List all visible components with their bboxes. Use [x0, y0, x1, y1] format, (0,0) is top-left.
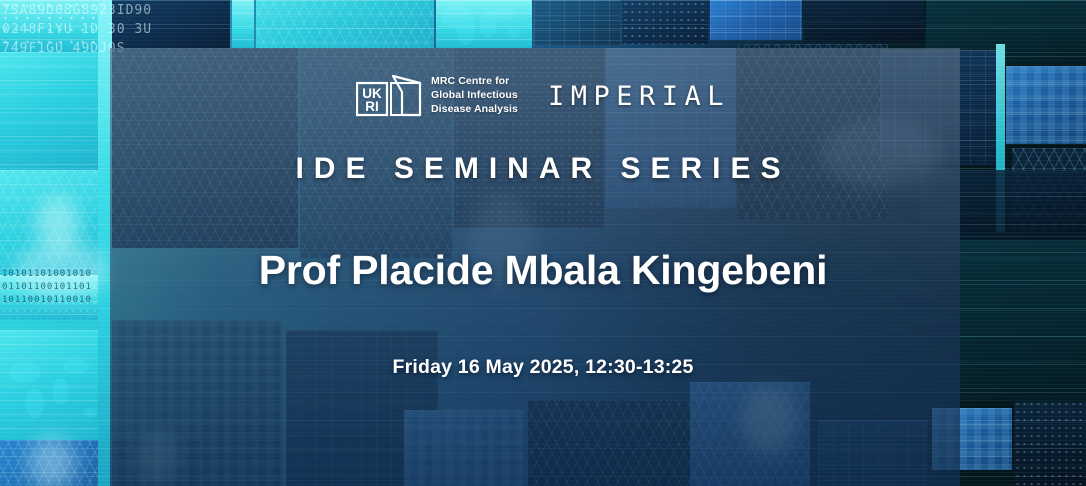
seminar-series-title: IDE SEMINAR SERIES	[295, 152, 790, 186]
seminar-datetime: Friday 16 May 2025, 12:30-13:25	[392, 356, 693, 379]
imperial-wordmark: IMPERIAL	[548, 81, 730, 112]
ukri-logo-icon: UK RI	[356, 74, 422, 118]
svg-text:RI: RI	[365, 99, 379, 114]
speaker-name: Prof Placide Mbala Kingebeni	[259, 247, 828, 294]
mrc-centre-text: MRC Centre for Global Infectious Disease…	[431, 75, 518, 117]
banner-content: UK RI MRC Centre for Global Infectious D…	[0, 0, 1086, 486]
logo-row: UK RI MRC Centre for Global Infectious D…	[356, 74, 730, 118]
ukri-mrc-lockup: UK RI MRC Centre for Global Infectious D…	[356, 74, 518, 118]
seminar-banner: 7SA89D08G8923ID900248F1YU 1D 30 3U749F1G…	[0, 0, 1086, 486]
